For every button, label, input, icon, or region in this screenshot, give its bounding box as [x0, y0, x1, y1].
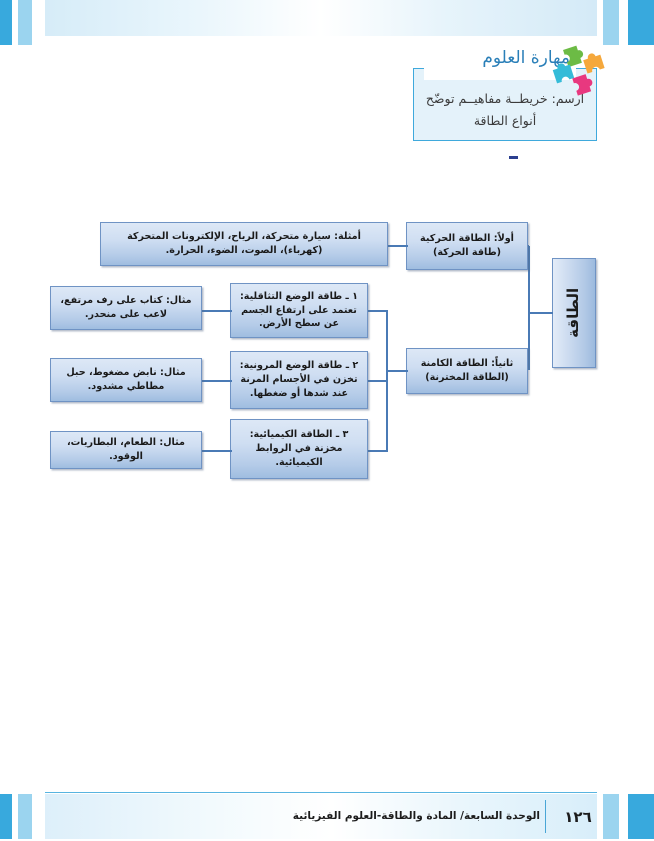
- concept-node-kinetic[interactable]: أولاً: الطاقة الحركية (طاقة الحركة): [406, 222, 528, 270]
- concept-node-root[interactable]: الطاقة: [552, 258, 596, 368]
- connector-chemical-to-example: [200, 450, 232, 452]
- concept-node-elastic-example[interactable]: مثال: نابض مضغوط، حبل مطاطي مشدود.: [50, 358, 202, 402]
- puzzle-pieces-logo-icon: [548, 42, 610, 98]
- concept-node-chemical-label: ٣ ـ الطاقة الكيميائية: مخزنة في الروابط …: [237, 428, 361, 470]
- concept-node-kinetic-examples-label: أمثلة: سيارة متحركة، الرياح، الإلكترونات…: [107, 230, 381, 258]
- connector-root-bus-cap: [528, 245, 529, 247]
- connector-kinetic-to-examples: [386, 245, 408, 247]
- concept-node-gravitational-example[interactable]: مثال: كتاب على رف مرتفع، لاعب على منحدر.: [50, 286, 202, 330]
- page-number: ١٢٦: [556, 808, 600, 826]
- connector-root-bus-lower: [528, 312, 530, 370]
- concept-node-gravitational[interactable]: ١ ـ طاقة الوضع التثاقلية: تعتمد على ارتف…: [230, 283, 368, 338]
- footer-stripe-right-inner: [603, 794, 619, 839]
- footer-stripe-left-inner: [18, 794, 32, 839]
- concept-node-kinetic-examples[interactable]: أمثلة: سيارة متحركة، الرياح، الإلكترونات…: [100, 222, 388, 266]
- footer-divider: [545, 800, 546, 833]
- connector-bus-to-gravitational: [366, 310, 388, 312]
- concept-node-elastic-example-label: مثال: نابض مضغوط، حبل مطاطي مشدود.: [57, 366, 195, 394]
- connector-root-bus: [528, 246, 530, 314]
- concept-node-potential[interactable]: ثانياً: الطاقة الكامنة (الطاقة المخترنة): [406, 348, 528, 394]
- concept-node-root-label: الطاقة: [563, 288, 585, 338]
- concept-node-gravitational-example-label: مثال: كتاب على رف مرتفع، لاعب على منحدر.: [57, 294, 195, 322]
- connector-root-stem: [528, 312, 553, 314]
- footer-rule: [45, 792, 597, 793]
- connector-bus-to-chemical: [366, 450, 388, 452]
- connector-elastic-to-example: [200, 380, 232, 382]
- concept-node-gravitational-label: ١ ـ طاقة الوضع التثاقلية: تعتمد على ارتف…: [237, 290, 361, 332]
- concept-node-potential-label: ثانياً: الطاقة الكامنة (الطاقة المخترنة): [413, 357, 521, 385]
- connector-potential-stem: [386, 370, 408, 372]
- concept-node-chemical-example-label: مثال: الطعام، البطاريات، الوقود.: [57, 436, 195, 464]
- footer-stripe-right-outer: [628, 794, 654, 839]
- concept-node-elastic-label: ٢ ـ طاقة الوضع المرونية: تخزن في الأجسام…: [237, 359, 361, 401]
- footer-unit-label: الوحدة السابعة/ المادة والطاقة-العلوم ال…: [60, 810, 540, 822]
- connector-gravitational-to-example: [200, 310, 232, 312]
- footer-stripe-left-outer: [0, 794, 12, 839]
- concept-node-chemical-example[interactable]: مثال: الطعام، البطاريات، الوقود.: [50, 431, 202, 469]
- concept-node-kinetic-label: أولاً: الطاقة الحركية (طاقة الحركة): [413, 232, 521, 260]
- concept-node-chemical[interactable]: ٣ ـ الطاقة الكيميائية: مخزنة في الروابط …: [230, 419, 368, 479]
- concept-node-elastic[interactable]: ٢ ـ طاقة الوضع المرونية: تخزن في الأجسام…: [230, 351, 368, 409]
- connector-bus-to-elastic: [366, 380, 388, 382]
